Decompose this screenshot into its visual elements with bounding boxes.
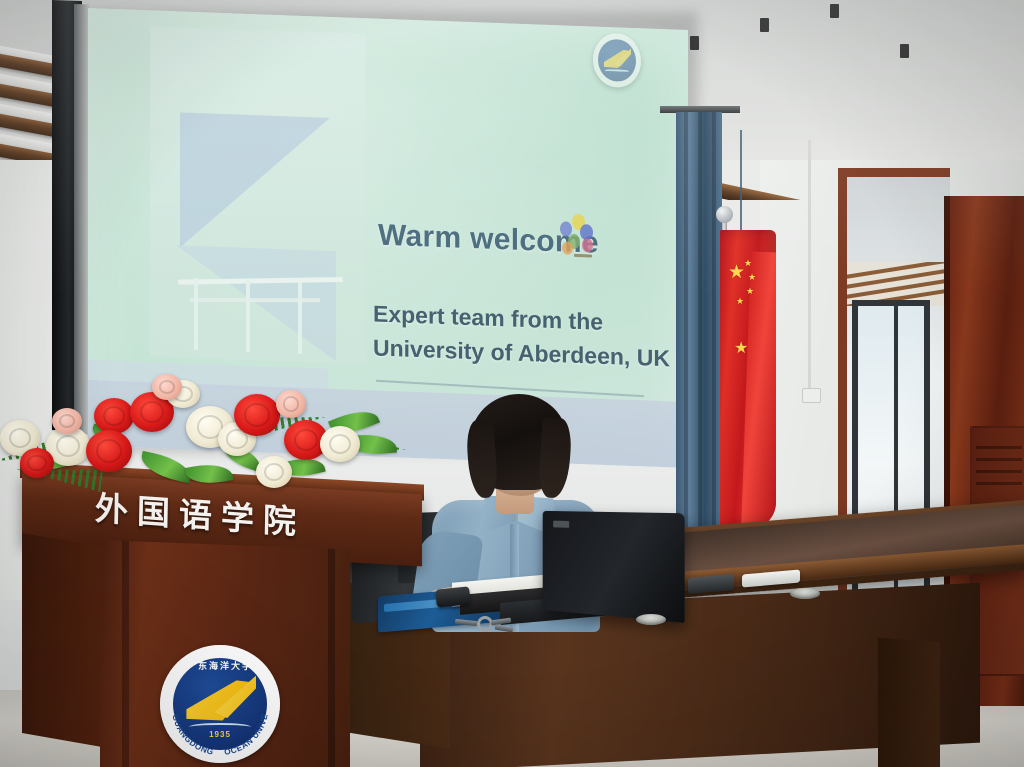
wall-light-switch[interactable] xyxy=(802,388,821,403)
hair-right-side xyxy=(537,417,573,499)
rose-pink xyxy=(276,390,306,418)
flag-star-mid: ★ xyxy=(734,342,748,356)
podium-university-emblem: 广东海洋大学 1935 GUANGDONG OCEAN UNIVERSITY xyxy=(160,645,280,763)
rose-red xyxy=(234,394,280,436)
rose-cream xyxy=(256,456,292,488)
flag-star-small: ★ xyxy=(746,284,754,298)
flag-star-small: ★ xyxy=(748,270,756,284)
cable-grommet xyxy=(790,588,820,599)
car-key-fob[interactable] xyxy=(435,586,471,607)
chinese-national-flag: ★ ★ ★ ★ ★ ★ xyxy=(720,230,776,530)
flag-star-small: ★ xyxy=(744,256,752,270)
laptop[interactable] xyxy=(543,511,685,623)
emblem-text-right: OCEAN UNIVERSITY xyxy=(160,645,270,757)
rose-red xyxy=(94,398,134,434)
emblem-english-text: GUANGDONG OCEAN UNIVERSITY xyxy=(160,645,280,763)
campus-building-photo xyxy=(150,26,365,364)
blind-pull-cord xyxy=(808,140,811,390)
building-shadow-shape xyxy=(176,245,336,361)
balloons-clipart xyxy=(558,213,604,277)
conference-room-photo: Warm welcome Expert team from the Univer… xyxy=(0,0,1024,767)
cable-grommet xyxy=(636,614,666,625)
slide-university-logo xyxy=(593,33,641,89)
building-post xyxy=(298,282,302,354)
flag-pole-finial xyxy=(716,206,733,223)
rose-cream xyxy=(320,426,360,462)
rose-pink xyxy=(152,374,182,400)
blue-curtain xyxy=(676,112,722,560)
building-post xyxy=(246,280,250,352)
rose-red xyxy=(86,430,132,472)
building-facade-shape xyxy=(180,112,330,253)
emblem-text-left: GUANGDONG xyxy=(170,713,214,756)
flag-star-large: ★ xyxy=(728,266,745,280)
key-ring[interactable] xyxy=(455,614,519,636)
laptop-brand-logo xyxy=(553,521,569,528)
slide-subtitle: Expert team from the University of Aberd… xyxy=(373,296,670,375)
rose-pink xyxy=(52,408,82,434)
podium-side xyxy=(22,533,102,747)
desk-leg xyxy=(878,638,940,767)
building-post xyxy=(194,278,198,350)
rose-red xyxy=(20,448,54,478)
floral-arrangement xyxy=(0,378,440,498)
flag-star-small: ★ xyxy=(736,294,744,308)
hair-left-side xyxy=(465,419,498,499)
